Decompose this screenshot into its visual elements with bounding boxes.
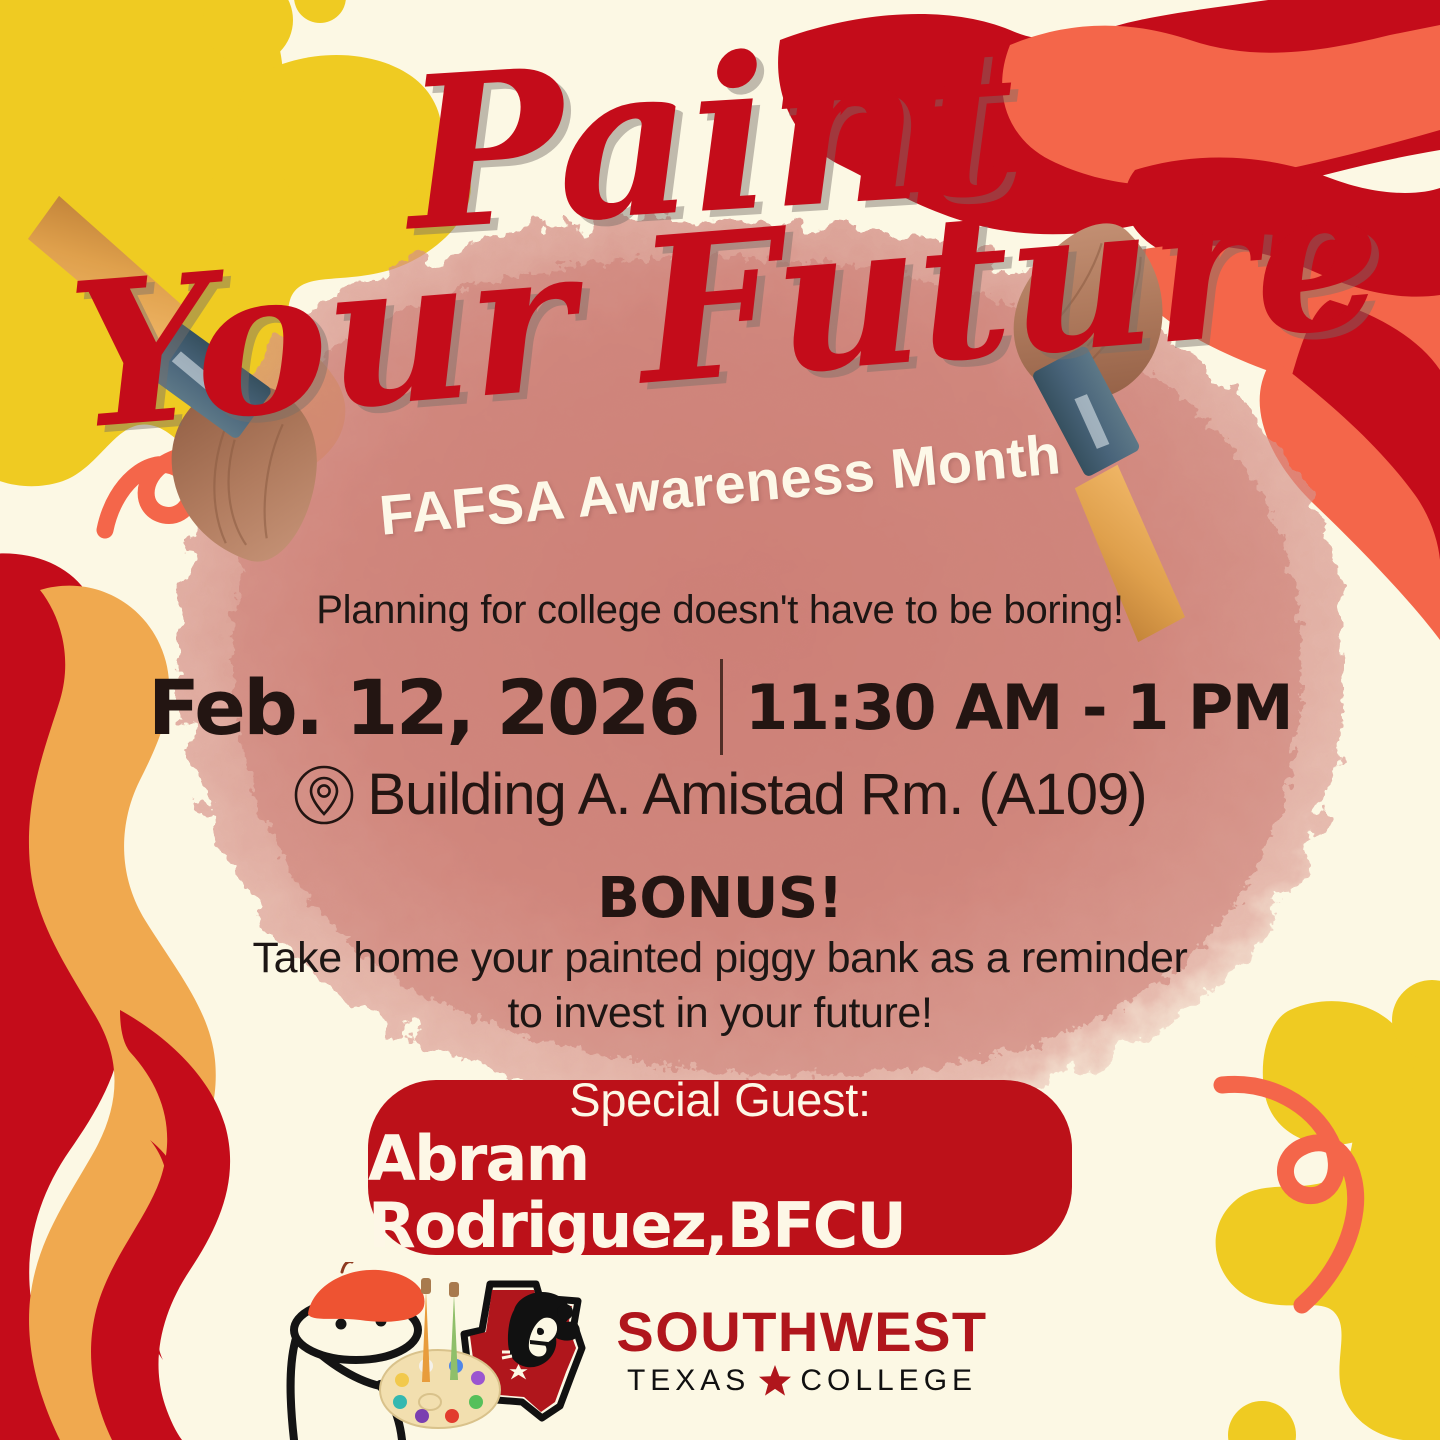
event-time: 11:30 AM - 1 PM — [745, 671, 1292, 744]
bonus-title: BONUS! — [0, 866, 1440, 931]
logo-college-text: COLLEGE — [800, 1364, 977, 1398]
event-location: Building A. Amistad Rm. (A109) — [367, 761, 1146, 828]
logo-wordmark: SOUTHWEST TEXAS COLLEGE — [616, 1304, 987, 1398]
logo-subtext-row: TEXAS COLLEGE — [627, 1364, 977, 1398]
date-time-row: Feb. 12, 2026 11:30 AM - 1 PM — [0, 659, 1440, 755]
location-row: Building A. Amistad Rm. (A109) — [0, 761, 1440, 828]
special-guest-banner: Special Guest: Abram Rodriguez,BFCU — [368, 1080, 1072, 1255]
bonus-line-1: Take home your painted piggy bank as a r… — [0, 931, 1440, 986]
logo-southwest-text: SOUTHWEST — [616, 1304, 987, 1360]
event-details: Planning for college doesn't have to be … — [0, 588, 1440, 1041]
tagline: Planning for college doesn't have to be … — [0, 588, 1440, 633]
event-date: Feb. 12, 2026 — [148, 663, 698, 752]
flyer-canvas: Paint Your Future FAFSA Awareness Month … — [0, 0, 1440, 1440]
bonus-line-2: to invest in your future! — [0, 986, 1440, 1041]
special-guest-label: Special Guest: — [569, 1075, 870, 1124]
divider — [720, 659, 723, 755]
location-pin-icon — [293, 764, 355, 826]
stick-figure-with-beret-and-palette — [268, 1262, 538, 1440]
star-icon — [758, 1364, 792, 1398]
logo-texas-text: TEXAS — [627, 1364, 750, 1398]
college-logo: SOUTHWEST TEXAS COLLEGE — [0, 1262, 1440, 1440]
special-guest-name: Abram Rodriguez,BFCU — [368, 1126, 1072, 1260]
